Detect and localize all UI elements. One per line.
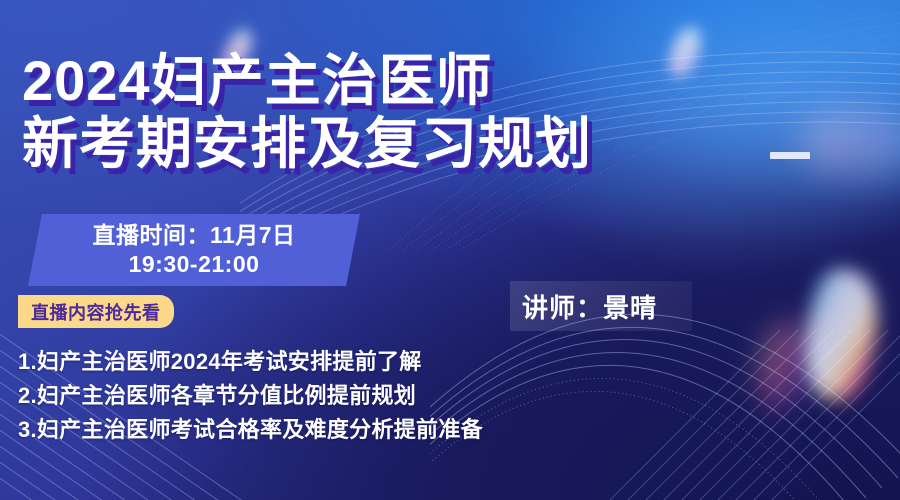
- highlight-points: 1.妇产主治医师2024年考试安排提前了解 2.妇产主治医师各章节分值比例提前规…: [18, 345, 483, 447]
- schedule-date: 直播时间：11月7日: [92, 221, 295, 250]
- content-preview-badge: 直播内容抢先看: [18, 295, 174, 328]
- diagonal-line-fan-bottom-right: [600, 330, 900, 500]
- white-dash-icon: [770, 152, 810, 159]
- list-item: 3.妇产主治医师考试合格率及难度分析提前准备: [18, 413, 483, 447]
- iridescent-prism-icon-5: [751, 316, 817, 414]
- poster-title: 2024妇产主治医师 新考期安排及复习规划: [22, 52, 742, 173]
- title-line-2: 新考期安排及复习规划: [22, 115, 742, 173]
- instructor-name: 讲师：景晴: [522, 288, 657, 325]
- schedule-time: 19:30-21:00: [129, 250, 260, 279]
- content-preview-badge-label: 直播内容抢先看: [31, 299, 161, 325]
- title-line-1: 2024妇产主治医师: [22, 49, 493, 112]
- live-class-poster: 2024妇产主治医师 新考期安排及复习规划 直播时间：11月7日 19:30-2…: [0, 0, 900, 500]
- iridescent-prism-icon-3: [800, 108, 900, 178]
- list-item: 2.妇产主治医师各章节分值比例提前规划: [18, 379, 483, 413]
- curved-line-fan-bottom-right: [430, 240, 900, 500]
- iridescent-prism-icon-4: [791, 263, 890, 406]
- schedule-box: 直播时间：11月7日 19:30-21:00: [28, 214, 360, 286]
- list-item: 1.妇产主治医师2024年考试安排提前了解: [18, 345, 483, 379]
